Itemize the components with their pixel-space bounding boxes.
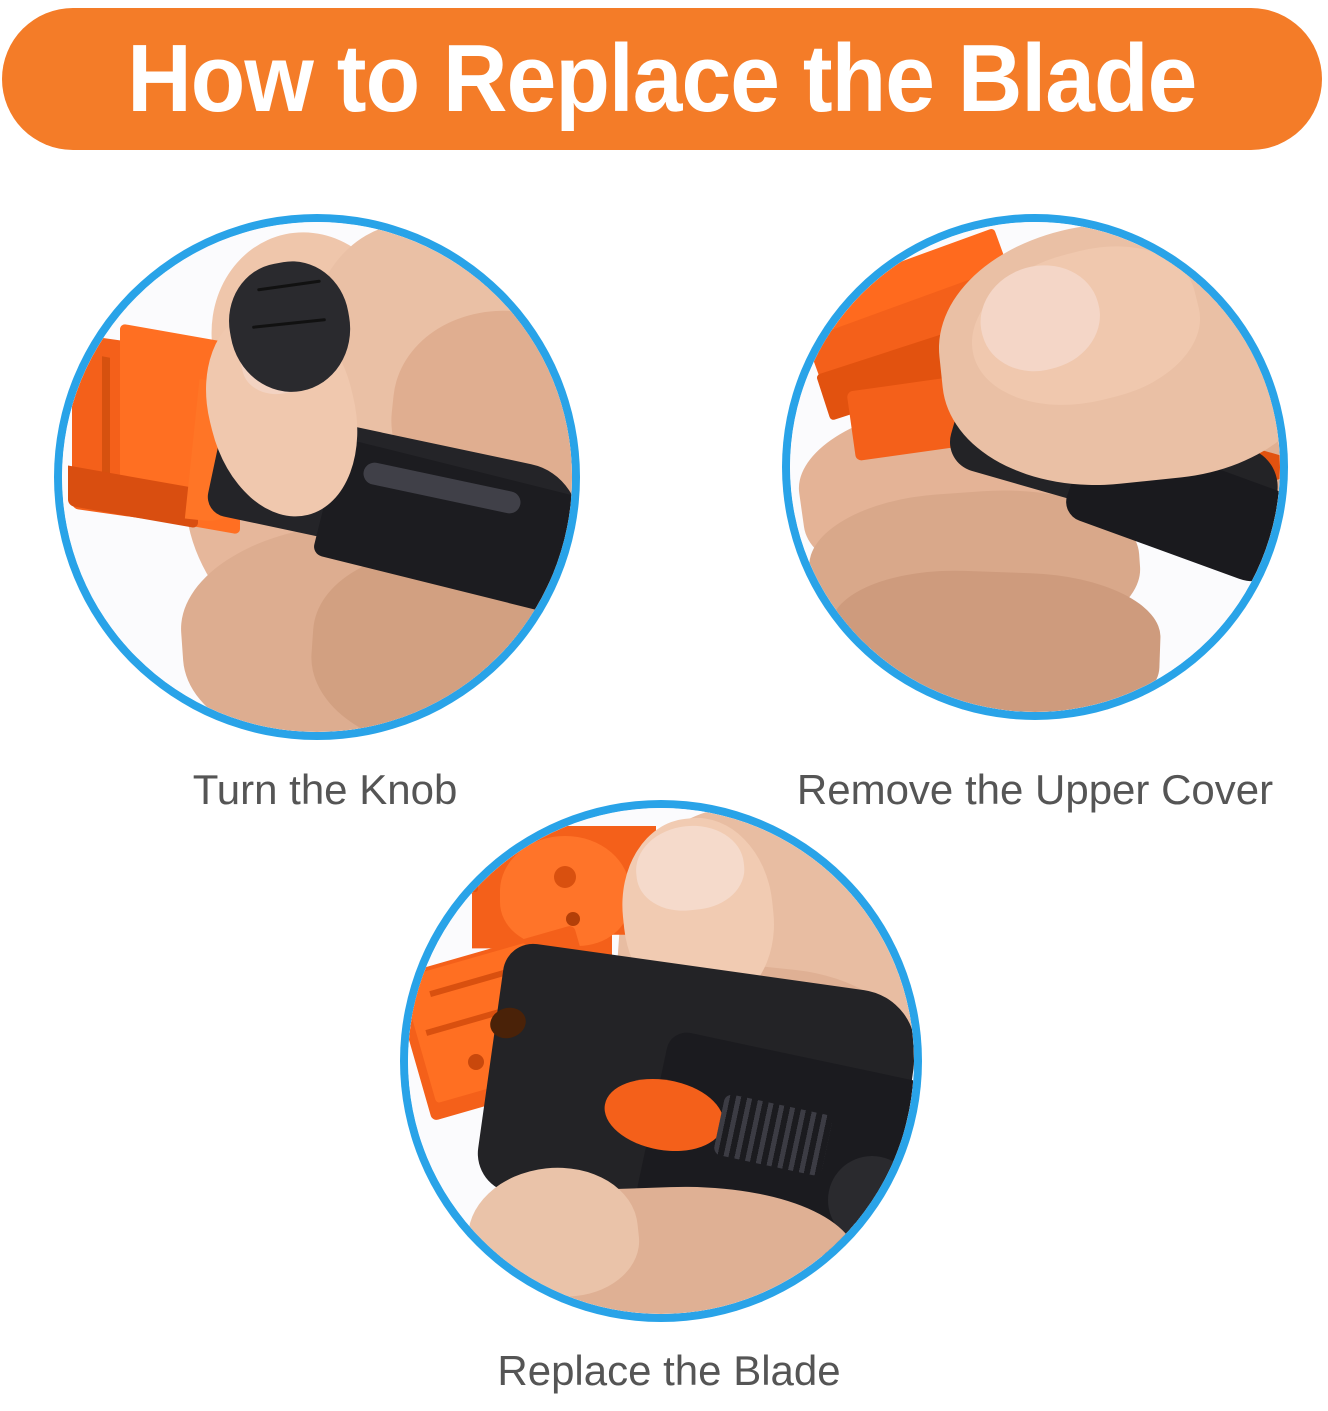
step-2-caption: Remove the Upper Cover xyxy=(782,767,1288,813)
cover-plate-hole xyxy=(566,912,580,926)
step-1-photo-circle xyxy=(62,222,572,732)
cover-plate-tab xyxy=(444,876,478,892)
step-2: Remove the Upper Cover xyxy=(782,222,1288,748)
step-3: Replace the Blade xyxy=(408,808,930,1330)
step-2-photo-circle xyxy=(790,222,1280,712)
step-3-photo xyxy=(408,808,914,1314)
step-1-caption: Turn the Knob xyxy=(62,767,588,813)
finger-shape xyxy=(827,566,1162,712)
step-1-photo xyxy=(62,222,572,732)
header-banner: How to Replace the Blade xyxy=(2,8,1322,150)
step-2-photo xyxy=(790,222,1280,712)
scene-remove-the-upper-cover xyxy=(790,222,1280,712)
cover-plate-stud xyxy=(554,866,576,888)
step-3-caption: Replace the Blade xyxy=(408,1348,930,1394)
body-screw xyxy=(468,1054,484,1070)
cover-tip xyxy=(790,239,849,280)
scene-replace-the-blade xyxy=(408,808,914,1314)
step-3-photo-circle xyxy=(408,808,914,1314)
step-1: Turn the Knob xyxy=(62,222,588,748)
page-title: How to Replace the Blade xyxy=(127,31,1196,127)
scene-turn-the-knob xyxy=(62,222,572,732)
